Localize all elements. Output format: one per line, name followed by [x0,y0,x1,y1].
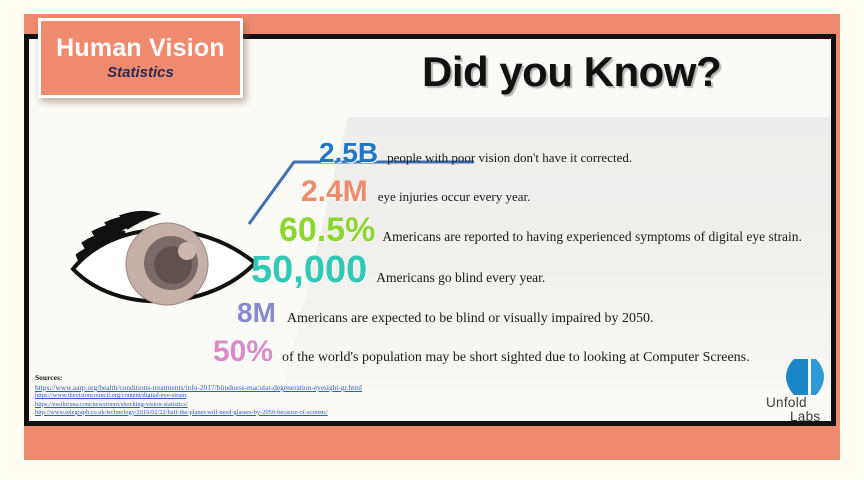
page-headline: Did you Know? [422,48,721,96]
unfold-labs-logo: Unfold Labs [764,355,831,421]
stat-value: 8M [237,297,276,329]
stat-value: 2.5B [319,137,378,169]
stat-value: 50% [213,335,273,369]
stat-value: 50,000 [251,249,367,292]
logo-mark-icon [764,355,831,399]
source-link[interactable]: http://www.telegraph.co.uk/technology/20… [35,409,455,417]
source-link[interactable]: https://essilorusa.com/newsroom/shocking… [35,401,455,409]
stat-row: 2.5B people with poor vision don't have … [319,137,632,169]
stat-description: Americans go blind every year. [376,270,545,286]
header-title: Human Vision [56,35,225,61]
sources-block: Sources: https://www.aarp.org/health/con… [35,373,455,417]
stat-value: 2.4M [301,175,368,209]
stat-description: people with poor vision don't have it co… [387,150,632,166]
stat-value: 60.5% [279,211,375,250]
stat-description: Americans are expected to be blind or vi… [287,311,654,327]
header-subtitle: Statistics [107,64,174,81]
header-card: Human Vision Statistics [38,18,243,98]
stat-description: of the world's population may be short s… [282,350,750,366]
stat-description: Americans are reported to having experie… [382,229,801,245]
sources-label: Sources: [35,373,455,382]
stat-row: 60.5% Americans are reported to having e… [279,211,802,250]
stat-row: 50,000 Americans go blind every year. [251,249,545,292]
logo-text-labs: Labs [790,409,820,421]
infographic-slide: 2.5B people with poor vision don't have … [0,0,864,480]
stat-row: 50% of the world's population may be sho… [213,335,750,369]
logo-text-unfold: Unfold [766,395,807,410]
stat-row: 8M Americans are expected to be blind or… [237,297,654,329]
source-link[interactable]: https://www.thevisioncouncil.org/content… [35,392,455,400]
source-link[interactable]: https://www.aarp.org/health/conditions-t… [35,383,455,392]
stat-description: eye injuries occur every year. [378,189,531,205]
stat-row: 2.4M eye injuries occur every year. [301,175,530,209]
